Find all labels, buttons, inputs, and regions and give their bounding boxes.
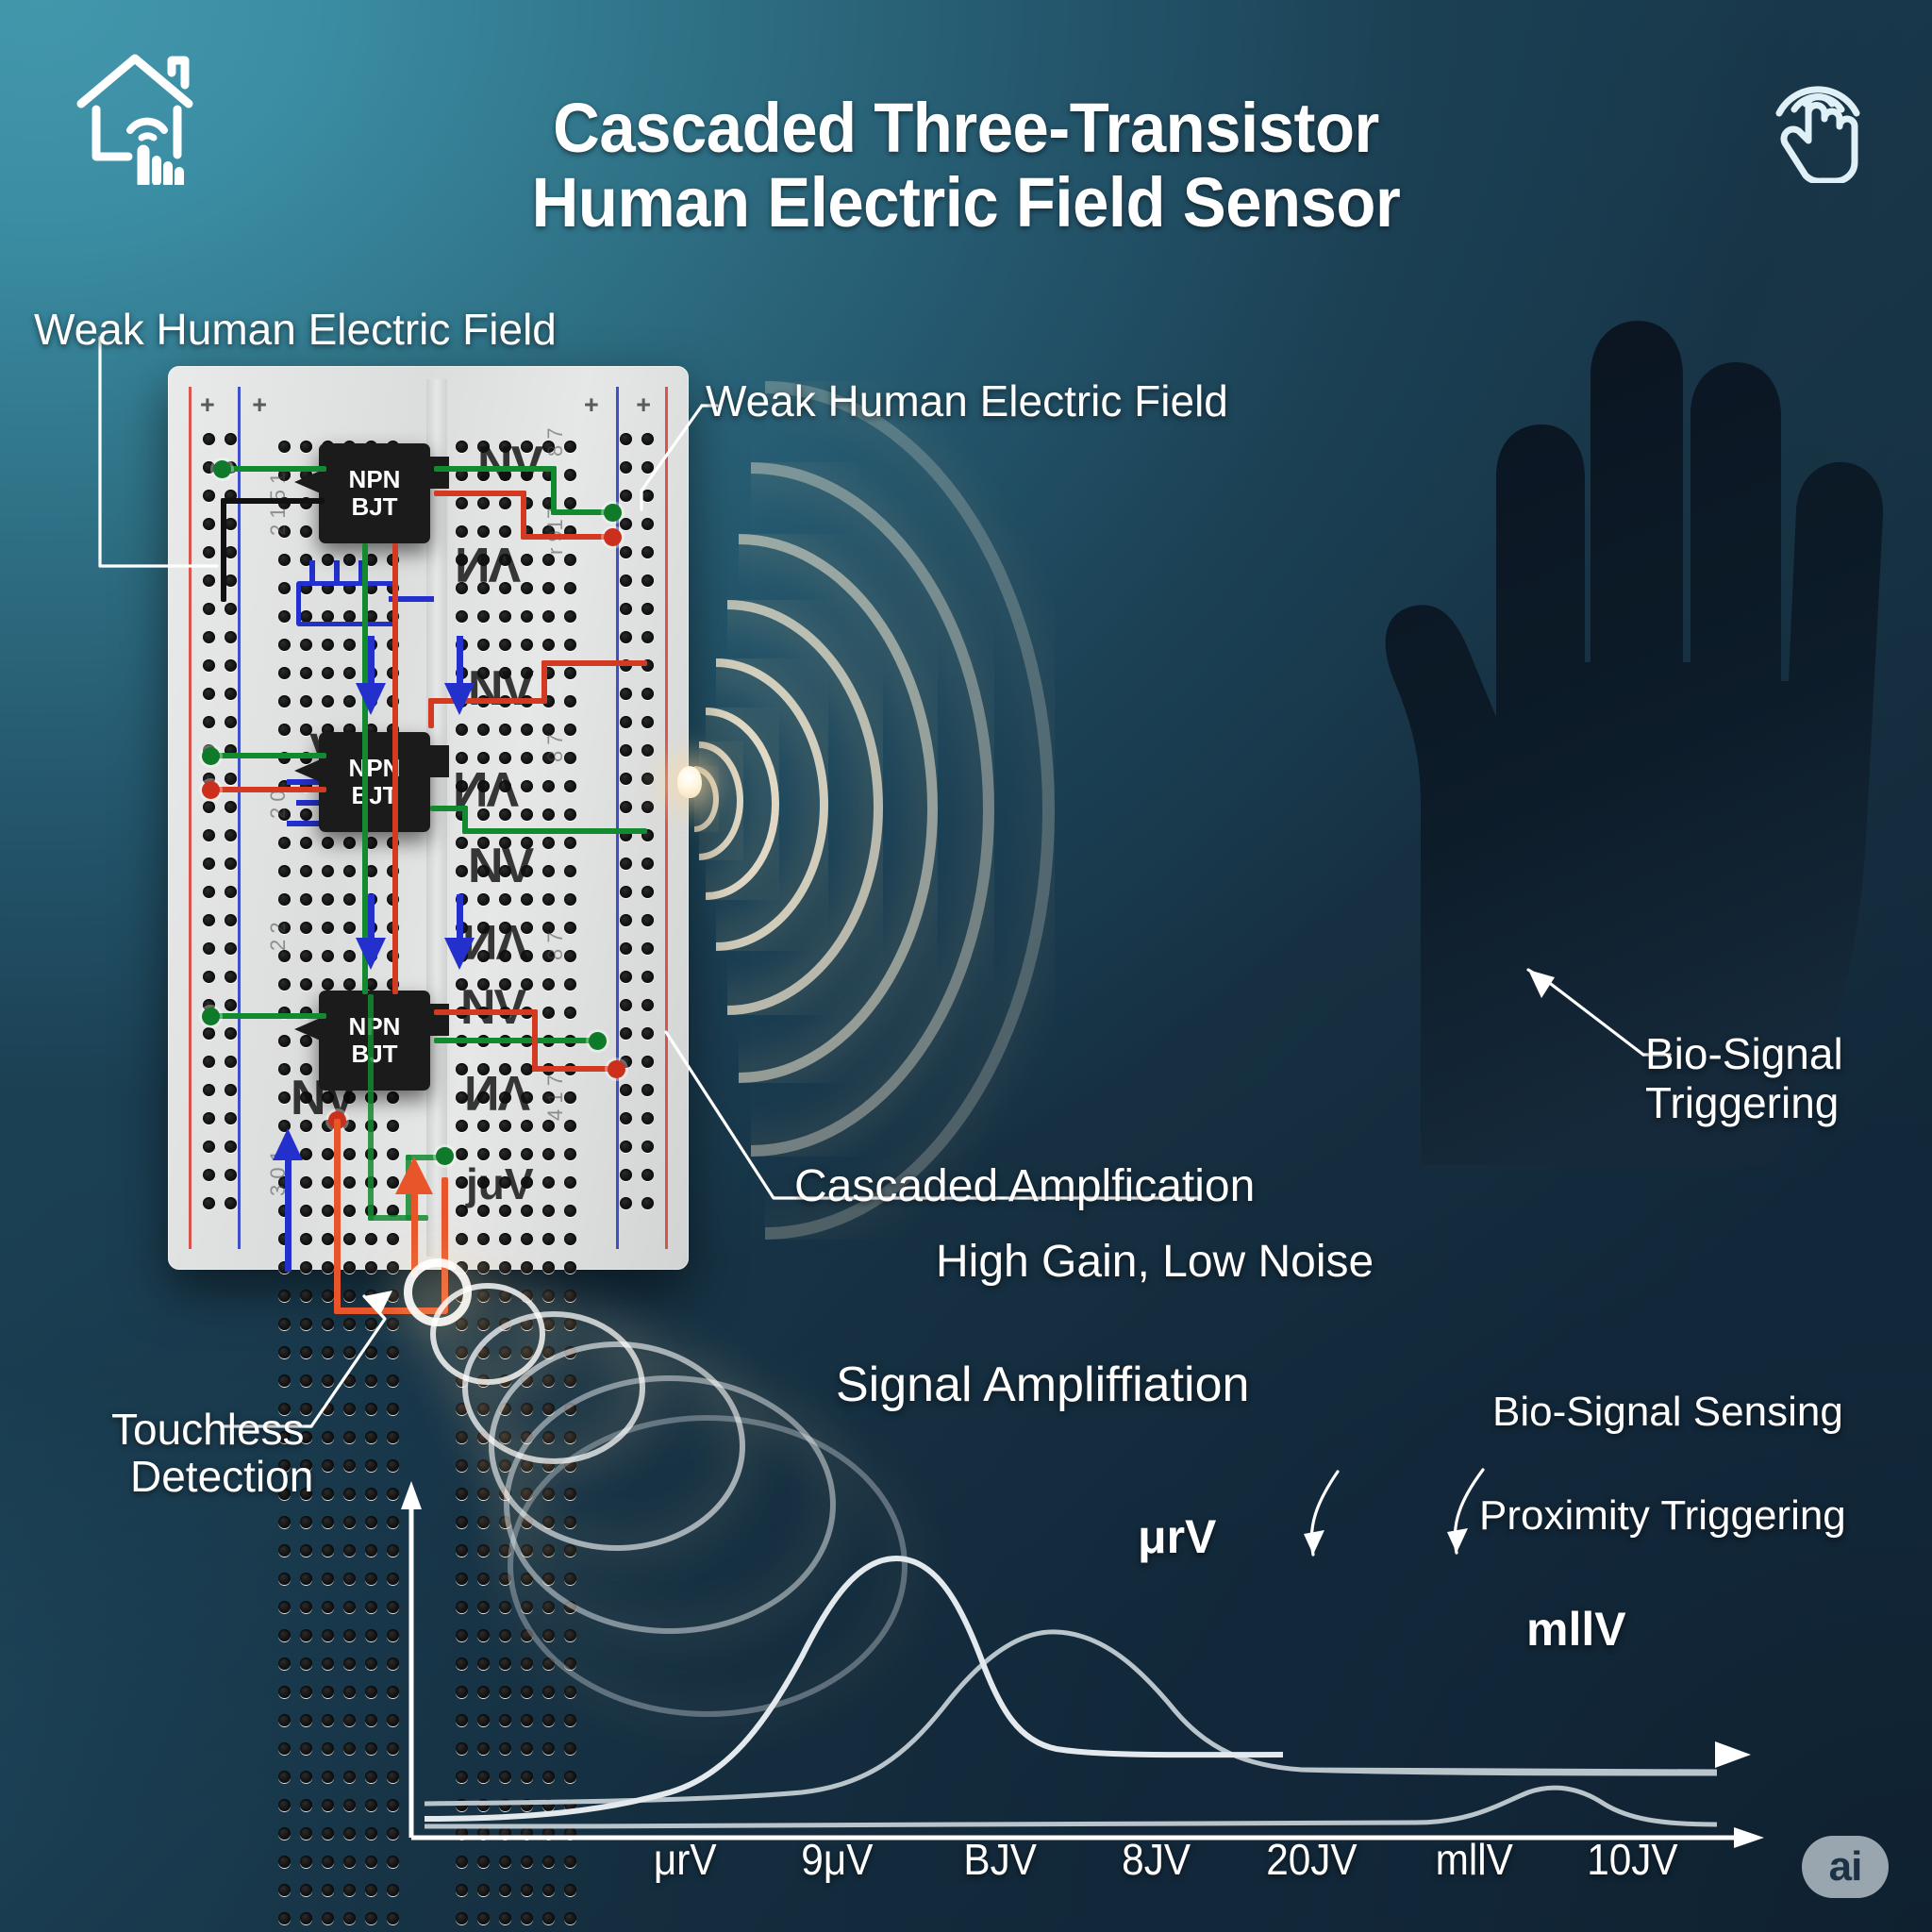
node-output-green — [436, 1147, 454, 1165]
wire-s1-out-b — [551, 466, 557, 515]
rail-plus-left: + + — [200, 391, 282, 420]
arrow-down-4 — [444, 938, 475, 970]
wire-s1-base — [221, 466, 326, 472]
silk-code-8: 8 7 — [543, 931, 568, 960]
wire-s1-emitter-a — [221, 498, 325, 504]
wire-s2-bias — [213, 787, 326, 792]
transistor-3-line2: BJT — [351, 1041, 397, 1068]
arrow-stem-down-1 — [368, 636, 375, 689]
callout-cascaded-title: Cascaded Amplfication — [794, 1160, 1255, 1212]
chart-xtick-4: 20JV — [1266, 1834, 1357, 1885]
chart-y-axis-arrow — [401, 1481, 422, 1509]
title-line-1: Cascaded Three-Transistor — [68, 91, 1865, 165]
chart-x-axis-arrow — [1734, 1827, 1764, 1848]
chart-series-stage2 — [425, 1632, 1717, 1804]
transistor-npn-3[interactable]: NPN BJT — [319, 991, 430, 1091]
callout-touchless-line1: Touchless — [111, 1404, 305, 1455]
node-s1-pwr — [604, 528, 622, 546]
wire-s1-pwr-a — [434, 491, 526, 496]
wire-s2-out-b — [428, 698, 434, 728]
silk-code-5: 8 7 — [543, 427, 568, 457]
wire-s3-pwr-b — [532, 1009, 538, 1072]
callout-cascaded-sub: High Gain, Low Noise — [936, 1236, 1374, 1288]
silk-code-7: 8 7 — [543, 733, 568, 762]
wire-s1-out-a — [434, 466, 557, 472]
arrow-stem-down-2 — [457, 636, 463, 689]
silk-nv-2: NV — [455, 536, 519, 592]
wire-s1-emitter-b — [221, 498, 226, 602]
wire-out-green-vert — [368, 994, 374, 1221]
infographic-canvas: Cascaded Three-Transistor Human Electric… — [0, 0, 1932, 1932]
chart-series-stage2-tail — [1302, 1770, 1717, 1772]
wire-s3-pwr-a — [434, 1009, 538, 1015]
silk-unit-juv: juV — [466, 1158, 534, 1209]
resistor-lead-c — [334, 560, 340, 583]
chart-annotation-bio-signal-sensing: Bio-Signal Sensing — [1492, 1389, 1843, 1436]
title-line-2: Human Electric Field Sensor — [68, 165, 1865, 240]
chart-xtick-5: mllV — [1436, 1834, 1513, 1885]
transistor-3-line1: NPN — [349, 1013, 401, 1041]
wire-s2-out-d — [541, 660, 647, 666]
ai-watermark-badge: ai — [1802, 1836, 1889, 1898]
arrow-down-2 — [444, 683, 475, 715]
arrow-up-orange — [395, 1157, 433, 1194]
chart-annotation-proximity-triggering: Proximity Triggering — [1479, 1492, 1846, 1540]
callout-weak-field-left: Weak Human Electric Field — [34, 304, 557, 355]
arrow-up-blue — [273, 1128, 303, 1160]
chart-annotation-millivolt: mllV — [1526, 1602, 1626, 1657]
silk-code-1: 2 1 5 1 — [266, 473, 291, 536]
wire-s3-base — [213, 1013, 326, 1019]
resistor-lead-b — [309, 560, 315, 583]
bus-wire-red — [392, 543, 398, 994]
breadboard: + + + + — [168, 366, 689, 1270]
arrow-stem-down-3 — [368, 894, 375, 943]
rail-plus-right: + + — [584, 391, 666, 420]
hole-field-left-rail — [198, 428, 241, 1221]
chart-xtick-6: 10JV — [1587, 1834, 1677, 1885]
page-title: Cascaded Three-Transistor Human Electric… — [68, 91, 1865, 240]
wire-out-red-vert — [334, 1119, 341, 1313]
wire-s2-out-c — [541, 660, 547, 704]
transistor-1-line2: BJT — [351, 493, 397, 521]
chart-xtick-3: 8JV — [1122, 1834, 1191, 1885]
arrow-down-3 — [356, 938, 386, 970]
wire-s2-base — [213, 753, 326, 758]
chart-y-axis-label-holder: Sgelinufie — [283, 1509, 340, 1849]
silk-nv-7: NV — [460, 979, 525, 1036]
wire-s3-pwr-c — [532, 1066, 613, 1072]
arrow-down-1 — [356, 683, 386, 715]
node-s1-base — [213, 460, 231, 478]
silk-code-2: 2 0 — [266, 790, 291, 819]
node-s3-pwr — [608, 1060, 625, 1078]
chart-xtick-0: μrV — [654, 1834, 717, 1885]
arrow-stem-up-blue — [285, 1158, 291, 1272]
wire-s1-out-c — [551, 509, 609, 515]
silk-nv-1: NV — [477, 436, 541, 492]
callout-bio-trigger-line1: Bio-Signal — [1645, 1028, 1843, 1079]
silk-code-3: 2 2 — [266, 922, 291, 951]
chart-glow-arrowhead — [1715, 1741, 1751, 1768]
resistor-symbol — [296, 581, 398, 626]
transistor-npn-2[interactable]: NPN BJT — [319, 732, 430, 832]
led-indicator — [677, 766, 702, 798]
node-s1-out — [604, 504, 622, 522]
silk-nv-8: NV — [464, 1064, 528, 1121]
callout-touchless-line2: Detection — [130, 1451, 313, 1502]
silk-nv-5: NV — [468, 838, 532, 894]
chart-title: Signal Ampliffiation — [836, 1357, 1249, 1413]
wire-s1-pwr-b — [521, 491, 526, 540]
node-s3-base — [202, 1008, 220, 1025]
transistor-1-line1: NPN — [349, 466, 401, 493]
node-s2-bias — [202, 781, 220, 799]
node-s2-base — [202, 747, 220, 765]
wire-s1-pwr-c — [521, 534, 609, 540]
node-s3-out — [589, 1032, 607, 1050]
transistor-2-line2: BJT — [351, 782, 397, 809]
chart-xtick-2: BJV — [963, 1834, 1037, 1885]
hole-field-right-rail — [615, 428, 658, 1221]
callout-weak-field-right: Weak Human Electric Field — [706, 375, 1228, 426]
chart-annotation-microvolt: μrV — [1138, 1509, 1216, 1564]
wire-out-green-step-a — [368, 1215, 428, 1221]
callout-bio-trigger-line2: Triggering — [1645, 1077, 1839, 1128]
chart-xtick-1: 9μV — [801, 1834, 873, 1885]
silk-nv-3: NV — [468, 660, 532, 717]
arrow-stem-down-4 — [457, 894, 463, 943]
silk-code-9: 4 1 7 — [543, 1074, 568, 1121]
wire-s3-out-a — [434, 1038, 592, 1043]
wire-s2-sense-c — [462, 828, 647, 834]
transistor-npn-1[interactable]: NPN BJT — [319, 443, 430, 543]
